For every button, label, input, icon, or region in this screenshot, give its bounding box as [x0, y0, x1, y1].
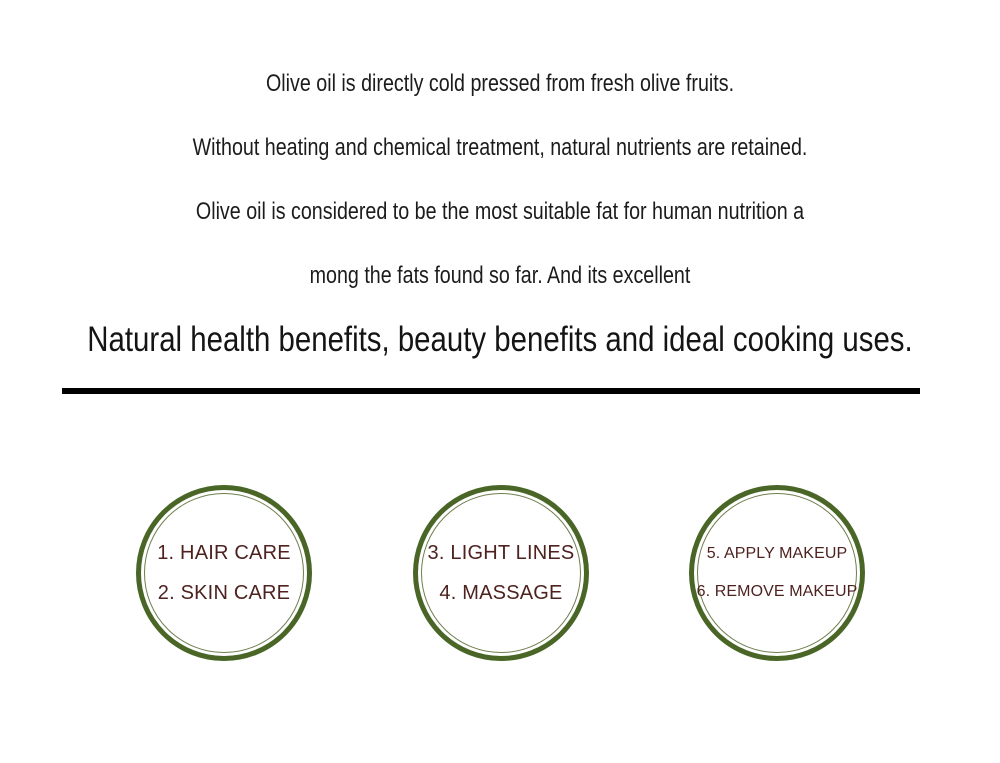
- intro-line-4: mong the fats found so far. And its exce…: [90, 244, 910, 308]
- benefit-badge-hair-and-skin-care: 1. HAIR CARE 2. SKIN CARE: [136, 485, 312, 661]
- badge-inner-ring-icon: [421, 493, 581, 653]
- product-description-page: Olive oil is directly cold pressed from …: [0, 0, 1000, 763]
- benefit-badge-apply-and-remove-makeup: 5. APPLY MAKEUP 6. REMOVE MAKEUP: [689, 485, 865, 661]
- benefit-badge-light-lines-and-massage: 3. LIGHT LINES 4. MASSAGE: [413, 485, 589, 661]
- intro-text-block: Olive oil is directly cold pressed from …: [0, 52, 1000, 368]
- section-divider-rule: [62, 388, 920, 394]
- badge-inner-ring-icon: [697, 493, 857, 653]
- badge-inner-ring-icon: [144, 493, 304, 653]
- benefit-badges-row: 1. HAIR CARE 2. SKIN CARE 3. LIGHT LINES…: [0, 485, 1000, 665]
- intro-line-2: Without heating and chemical treatment, …: [90, 116, 910, 180]
- intro-line-1: Olive oil is directly cold pressed from …: [90, 52, 910, 116]
- headline-benefits: Natural health benefits, beauty benefits…: [80, 312, 920, 368]
- intro-line-3: Olive oil is considered to be the most s…: [90, 180, 910, 244]
